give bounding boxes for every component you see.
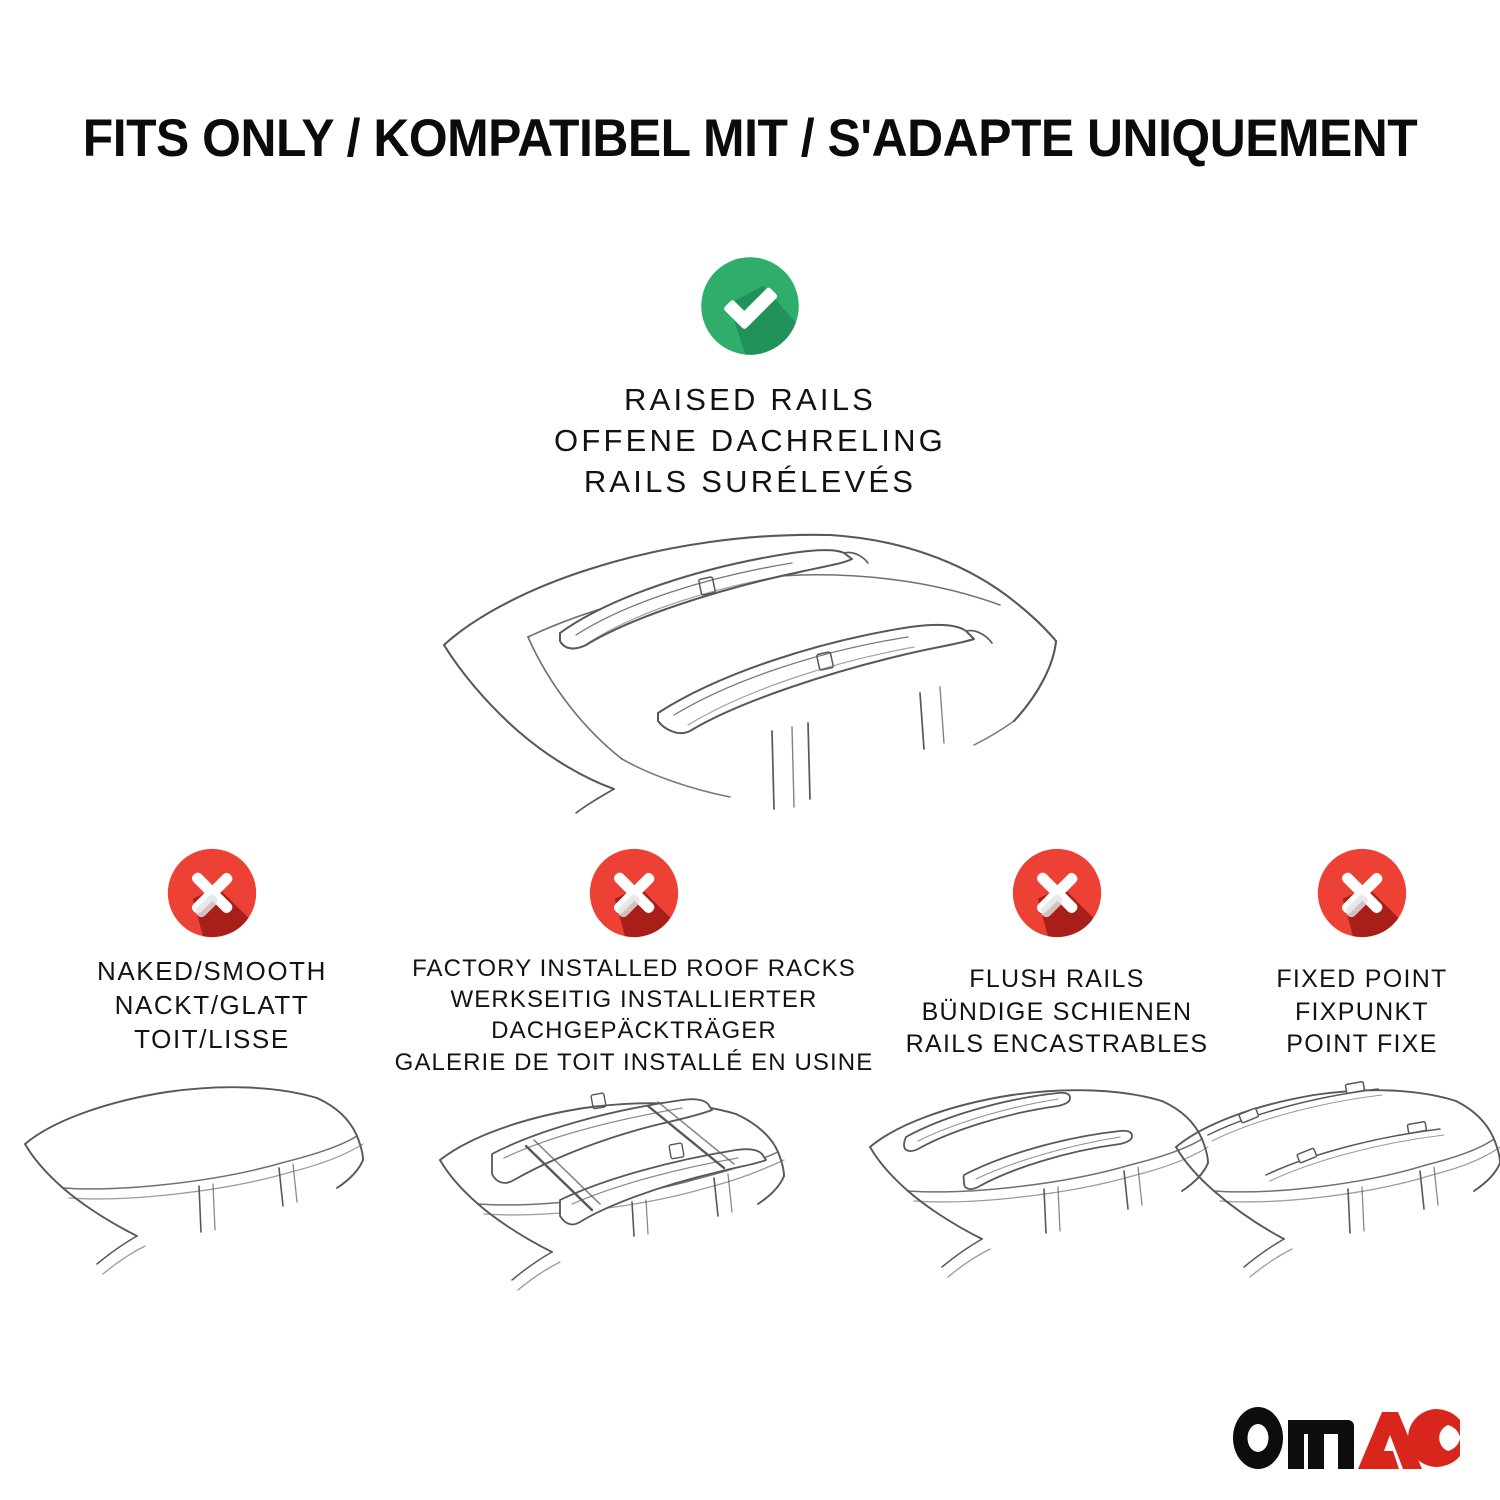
label-line-3: TOIT/LISSE: [97, 1023, 327, 1057]
fitment-infographic: FITS ONLY / KOMPATIBEL MIT / S'ADAPTE UN…: [0, 0, 1500, 1500]
label-line-4: GALERIE DE TOIT INSTALLÉ EN USINE: [395, 1047, 874, 1078]
compatible-label-fr: RAILS SURÉLEVÉS: [554, 461, 946, 502]
incompatible-labels-factory-rack: FACTORY INSTALLED ROOF RACKS WERKSEITIG …: [395, 953, 874, 1078]
page-title: FITS ONLY / KOMPATIBEL MIT / S'ADAPTE UN…: [45, 108, 1455, 169]
label-line-2: FIXPUNKT: [1276, 996, 1447, 1029]
x-circle-icon: [1314, 845, 1410, 941]
incompatible-section: NAKED/SMOOTH NACKT/GLATT TOIT/LISSE: [0, 845, 1500, 1338]
label-line-2: NACKT/GLATT: [97, 989, 327, 1023]
compatible-label-en: RAISED RAILS: [554, 379, 946, 420]
incompatible-column-fixed-point: FIXED POINT FIXPUNKT POINT FIXE: [1244, 845, 1480, 1321]
label-line-1: FLUSH RAILS: [906, 963, 1209, 996]
x-circle-icon: [586, 845, 682, 941]
label-line-1: FIXED POINT: [1276, 963, 1447, 996]
incompatible-labels-naked-smooth: NAKED/SMOOTH NACKT/GLATT TOIT/LISSE: [97, 955, 327, 1056]
compatible-label-de: OFFENE DACHRELING: [554, 420, 946, 461]
omac-logo: OMAC: [1232, 1406, 1460, 1470]
car-roof-fixed-point-illustration: [1162, 1071, 1500, 1321]
car-roof-raised-rails-illustration: [400, 517, 1100, 817]
label-line-2: WERKSEITIG INSTALLIERTER: [395, 984, 874, 1015]
label-line-3: POINT FIXE: [1276, 1028, 1447, 1061]
x-circle-icon: [1009, 845, 1105, 941]
car-roof-factory-rack-illustration: [434, 1088, 834, 1338]
incompatible-column-factory-rack: FACTORY INSTALLED ROOF RACKS WERKSEITIG …: [424, 845, 844, 1338]
label-line-3: DACHGEPÄCKTRÄGER: [395, 1015, 874, 1046]
label-line-1: FACTORY INSTALLED ROOF RACKS: [395, 953, 874, 984]
compatible-labels: RAISED RAILS OFFENE DACHRELING RAILS SUR…: [554, 379, 946, 503]
incompatible-labels-fixed-point: FIXED POINT FIXPUNKT POINT FIXE: [1276, 963, 1447, 1061]
brand-name: OMAC: [1460, 1406, 1461, 1407]
label-line-3: RAILS ENCASTRABLES: [906, 1028, 1209, 1061]
check-circle-icon: [697, 253, 803, 359]
label-line-1: NAKED/SMOOTH: [97, 955, 327, 989]
car-roof-naked-smooth-illustration: [17, 1066, 407, 1316]
incompatible-labels-flush-rails: FLUSH RAILS BÜNDIGE SCHIENEN RAILS ENCAS…: [906, 963, 1209, 1061]
label-line-2: BÜNDIGE SCHIENEN: [906, 996, 1209, 1029]
incompatible-column-naked-smooth: NAKED/SMOOTH NACKT/GLATT TOIT/LISSE: [12, 845, 412, 1316]
compatible-section: RAISED RAILS OFFENE DACHRELING RAILS SUR…: [0, 253, 1500, 817]
x-circle-icon: [164, 845, 260, 941]
